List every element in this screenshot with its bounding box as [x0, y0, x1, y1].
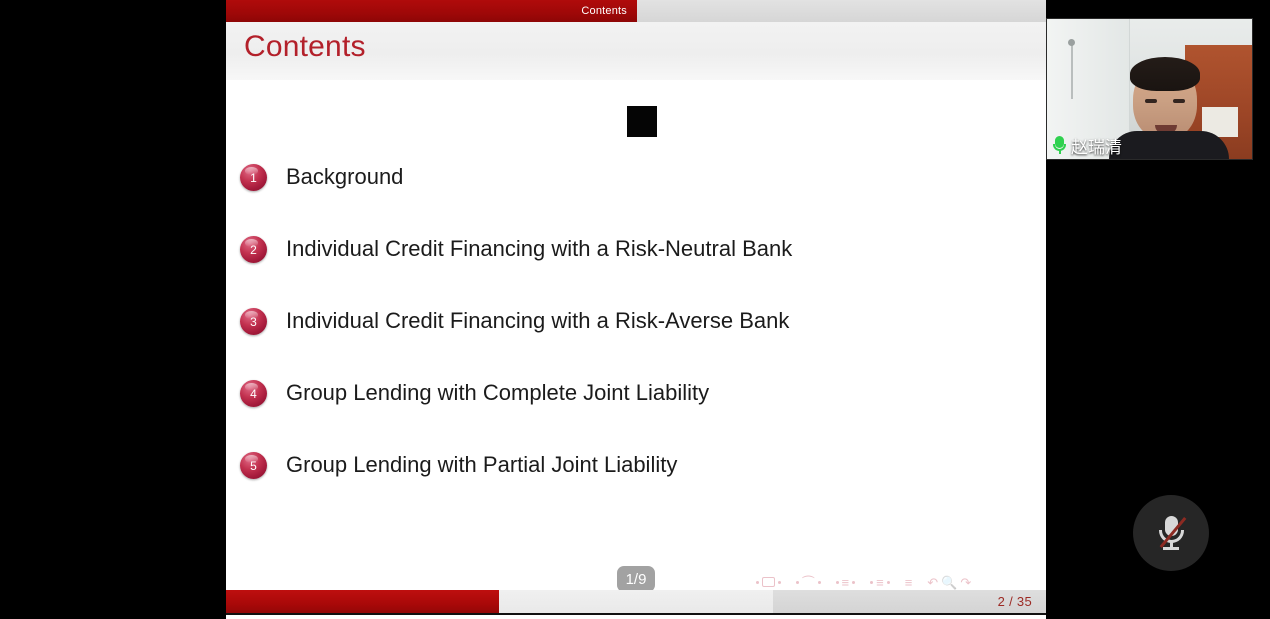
- search-icon[interactable]: 🔍: [941, 576, 957, 589]
- toc-number: 4: [250, 388, 257, 400]
- section-first-icon[interactable]: [870, 581, 873, 584]
- presentation-slide[interactable]: Contents Contents 1 Background 2 Individ…: [226, 0, 1046, 619]
- cursor-artifact: [627, 106, 657, 137]
- toc-number: 3: [250, 316, 257, 328]
- participant-name-bar: 赵瑞清: [1047, 131, 1122, 159]
- toc-bullet-icon: 4: [240, 380, 267, 407]
- toc-bullet-icon: 1: [240, 164, 267, 191]
- participant-shoulders: [1109, 131, 1229, 159]
- footline-page-number: 2 / 35: [998, 594, 1032, 609]
- slide-last-icon[interactable]: [818, 581, 821, 584]
- screen-share-stage: Contents Contents 1 Background 2 Individ…: [0, 0, 1270, 619]
- section-icon[interactable]: ≡: [876, 576, 884, 589]
- toc-label: Individual Credit Financing with a Risk-…: [286, 304, 789, 338]
- table-of-contents: 1 Background 2 Individual Credit Financi…: [226, 160, 1046, 520]
- participant-eye-left: [1145, 99, 1157, 103]
- toc-bullet-icon: 3: [240, 308, 267, 335]
- beamer-headline-active-section[interactable]: Contents: [226, 0, 637, 22]
- beamer-headline-inactive-area: [637, 0, 1046, 22]
- beamer-headline-bar: Contents: [226, 0, 1046, 22]
- toc-bullet-icon: 5: [240, 452, 267, 479]
- mute-toggle-button[interactable]: [1133, 495, 1209, 571]
- slide-first-icon[interactable]: [796, 581, 799, 584]
- subsection-last-icon[interactable]: [852, 581, 855, 584]
- footline-dark-segment: 2 / 35: [773, 590, 1046, 613]
- microphone-active-icon: [1053, 136, 1066, 154]
- microphone-muted-icon: [1156, 514, 1186, 552]
- participant-eye-right: [1173, 99, 1185, 103]
- video-cable: [1071, 41, 1073, 99]
- toc-label: Group Lending with Complete Joint Liabil…: [286, 376, 709, 410]
- forward-icon[interactable]: ↷: [960, 576, 971, 589]
- back-icon[interactable]: ↶: [927, 576, 938, 589]
- document-icon[interactable]: ≡: [905, 576, 913, 589]
- beamer-navigation-symbols[interactable]: ⏜ ≡ ≡ ≡ ↶ 🔍 ↷: [756, 572, 1036, 592]
- toc-item[interactable]: 4 Group Lending with Complete Joint Liab…: [226, 376, 1046, 448]
- slide-icon[interactable]: ⏜: [802, 576, 815, 589]
- participant-hair: [1130, 57, 1200, 91]
- participant-name: 赵瑞清: [1071, 133, 1122, 158]
- toc-number: 5: [250, 460, 257, 472]
- frame-last-icon[interactable]: [778, 581, 781, 584]
- toc-number: 2: [250, 244, 257, 256]
- frame-first-icon[interactable]: [756, 581, 759, 584]
- beamer-footline-bar: 2 / 35: [226, 590, 1046, 613]
- toc-label: Individual Credit Financing with a Risk-…: [286, 232, 792, 266]
- subsection-icon[interactable]: ≡: [842, 576, 850, 589]
- section-last-icon[interactable]: [887, 581, 890, 584]
- slide-page-overlay-indicator: 1/9: [617, 566, 655, 592]
- footline-red-segment: [226, 590, 499, 613]
- beamer-headline-section-label: Contents: [581, 5, 627, 17]
- toc-item[interactable]: 2 Individual Credit Financing with a Ris…: [226, 232, 1046, 304]
- toc-label: Group Lending with Partial Joint Liabili…: [286, 448, 677, 482]
- toc-number: 1: [250, 172, 257, 184]
- footline-rule: [226, 613, 1046, 615]
- slide-title: Contents: [244, 30, 366, 64]
- toc-bullet-icon: 2: [240, 236, 267, 263]
- toc-item[interactable]: 3 Individual Credit Financing with a Ris…: [226, 304, 1046, 376]
- toc-label: Background: [286, 160, 403, 194]
- subsection-first-icon[interactable]: [836, 581, 839, 584]
- toc-item[interactable]: 1 Background: [226, 160, 1046, 232]
- frame-icon[interactable]: [762, 577, 775, 587]
- footline-light-segment: [499, 590, 773, 613]
- video-cable-fitting: [1068, 39, 1075, 46]
- participant-video-tile[interactable]: 赵瑞清: [1046, 18, 1253, 160]
- toc-item[interactable]: 5 Group Lending with Partial Joint Liabi…: [226, 448, 1046, 520]
